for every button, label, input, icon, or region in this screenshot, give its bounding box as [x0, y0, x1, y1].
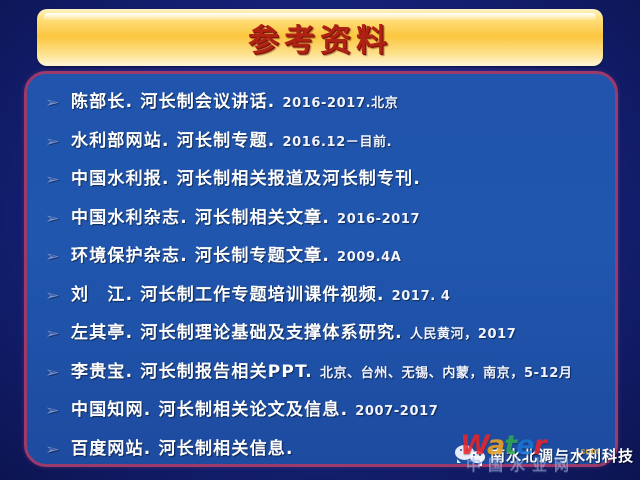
- bullet-arrow-icon: ➢: [45, 161, 78, 199]
- list-item: ➢左其亭. 河长制理论基础及支撑体系研究.人民黄河，2017: [45, 314, 601, 353]
- list-item: ➢环境保护杂志. 河长制专题文章.2009.4A: [45, 237, 601, 276]
- bullet-arrow-icon: ➢: [45, 354, 78, 392]
- bullet-arrow-icon: ➢: [45, 431, 78, 469]
- brand-name: 南水北调与水利科技: [490, 445, 634, 466]
- list-item: ➢中国水利报. 河长制相关报道及河长制专刊.: [45, 160, 601, 199]
- reference-title: 中国水利报. 河长制相关报道及河长制专刊.: [71, 160, 421, 199]
- list-item: ➢中国知网. 河长制相关论文及信息.2007-2017: [45, 391, 601, 430]
- reference-title: 左其亭. 河长制理论基础及支撑体系研究.: [71, 314, 403, 353]
- bullet-arrow-icon: ➢: [45, 238, 78, 276]
- reference-detail: 2016-2017: [337, 201, 420, 238]
- brand-footer: 南水北调与水利科技: [455, 438, 634, 472]
- reference-detail: 2009.4A: [337, 239, 401, 276]
- reference-detail: 2017. 4: [392, 278, 451, 315]
- page-title: 参考资料: [248, 15, 392, 60]
- list-item: ➢李贵宝. 河长制报告相关PPT.北京、台州、无锡、内蒙，南京，5-12月: [45, 353, 601, 392]
- reference-title: 环境保护杂志. 河长制专题文章.: [71, 237, 330, 276]
- list-item: ➢水利部网站. 河长制专题.2016.12－目前.: [45, 122, 601, 161]
- reference-title: 中国水利杂志. 河长制相关文章.: [71, 199, 330, 238]
- wechat-icon: [455, 443, 485, 467]
- list-item: ➢陈部长. 河长制会议讲话.2016-2017.北京: [45, 83, 601, 122]
- bullet-arrow-icon: ➢: [45, 315, 78, 353]
- reference-detail: 北京、台州、无锡、内蒙，南京，5-12月: [320, 355, 573, 392]
- list-item: ➢刘 江. 河长制工作专题培训课件视频.2017. 4: [45, 276, 601, 315]
- reference-title: 陈部长. 河长制会议讲话.: [71, 83, 275, 122]
- list-item: ➢中国水利杂志. 河长制相关文章.2016-2017: [45, 199, 601, 238]
- reference-title: 水利部网站. 河长制专题.: [71, 122, 275, 161]
- bullet-arrow-icon: ➢: [45, 277, 78, 315]
- reference-title: 百度网站. 河长制相关信息.: [71, 430, 294, 469]
- bullet-arrow-icon: ➢: [45, 123, 78, 161]
- bullet-arrow-icon: ➢: [45, 200, 78, 238]
- reference-detail: 2007-2017: [355, 393, 438, 430]
- bullet-arrow-icon: ➢: [45, 392, 78, 430]
- bullet-arrow-icon: ➢: [45, 84, 78, 122]
- reference-title: 李贵宝. 河长制报告相关PPT.: [71, 353, 313, 392]
- slide-canvas: 参考资料 ➢陈部长. 河长制会议讲话.2016-2017.北京➢水利部网站. 河…: [0, 0, 640, 480]
- reference-content-box: ➢陈部长. 河长制会议讲话.2016-2017.北京➢水利部网站. 河长制专题.…: [24, 71, 618, 467]
- title-banner: 参考资料: [37, 9, 603, 66]
- reference-detail: 人民黄河，2017: [410, 316, 517, 353]
- reference-title: 刘 江. 河长制工作专题培训课件视频.: [71, 276, 385, 315]
- reference-title: 中国知网. 河长制相关论文及信息.: [71, 391, 348, 430]
- reference-detail: 2016.12－目前.: [282, 124, 392, 161]
- reference-detail: 2016-2017.北京: [282, 85, 398, 122]
- reference-list: ➢陈部长. 河长制会议讲话.2016-2017.北京➢水利部网站. 河长制专题.…: [27, 74, 615, 464]
